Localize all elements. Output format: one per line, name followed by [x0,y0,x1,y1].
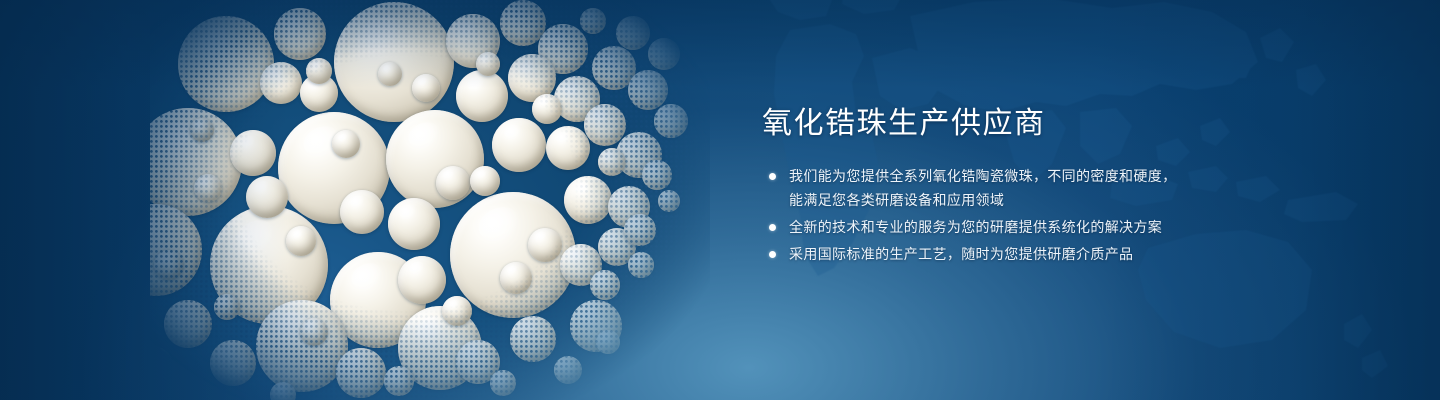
beads-stage [150,0,710,400]
bullet-dot-icon [769,224,776,231]
bullet-dot-icon [769,251,776,258]
product-photo-zirconia-beads [150,0,710,400]
bullet-text-line2: 能满足您各类研磨设备和应用领域 [789,188,1362,212]
bullet-text-line1: 全新的技术和专业的服务为您的研磨提供系统化的解决方案 [789,219,1162,235]
list-item: 采用国际标准的生产工艺，随时为您提供研磨介质产品 [762,242,1362,266]
list-item: 全新的技术和专业的服务为您的研磨提供系统化的解决方案 [762,215,1362,239]
hero-banner: 氧化锆珠生产供应商 我们能为您提供全系列氧化锆陶瓷微珠，不同的密度和硬度， 能满… [0,0,1440,400]
bullet-dot-icon [769,173,776,180]
page-title: 氧化锆珠生产供应商 [762,104,1362,144]
bullet-text-line1: 采用国际标准的生产工艺，随时为您提供研磨介质产品 [789,246,1133,262]
feature-bullet-list: 我们能为您提供全系列氧化锆陶瓷微珠，不同的密度和硬度， 能满足您各类研磨设备和应… [762,164,1362,266]
bullet-text-line1: 我们能为您提供全系列氧化锆陶瓷微珠，不同的密度和硬度， [789,168,1176,184]
banner-copy: 氧化锆珠生产供应商 我们能为您提供全系列氧化锆陶瓷微珠，不同的密度和硬度， 能满… [762,104,1362,269]
list-item: 我们能为您提供全系列氧化锆陶瓷微珠，不同的密度和硬度， 能满足您各类研磨设备和应… [762,164,1362,212]
